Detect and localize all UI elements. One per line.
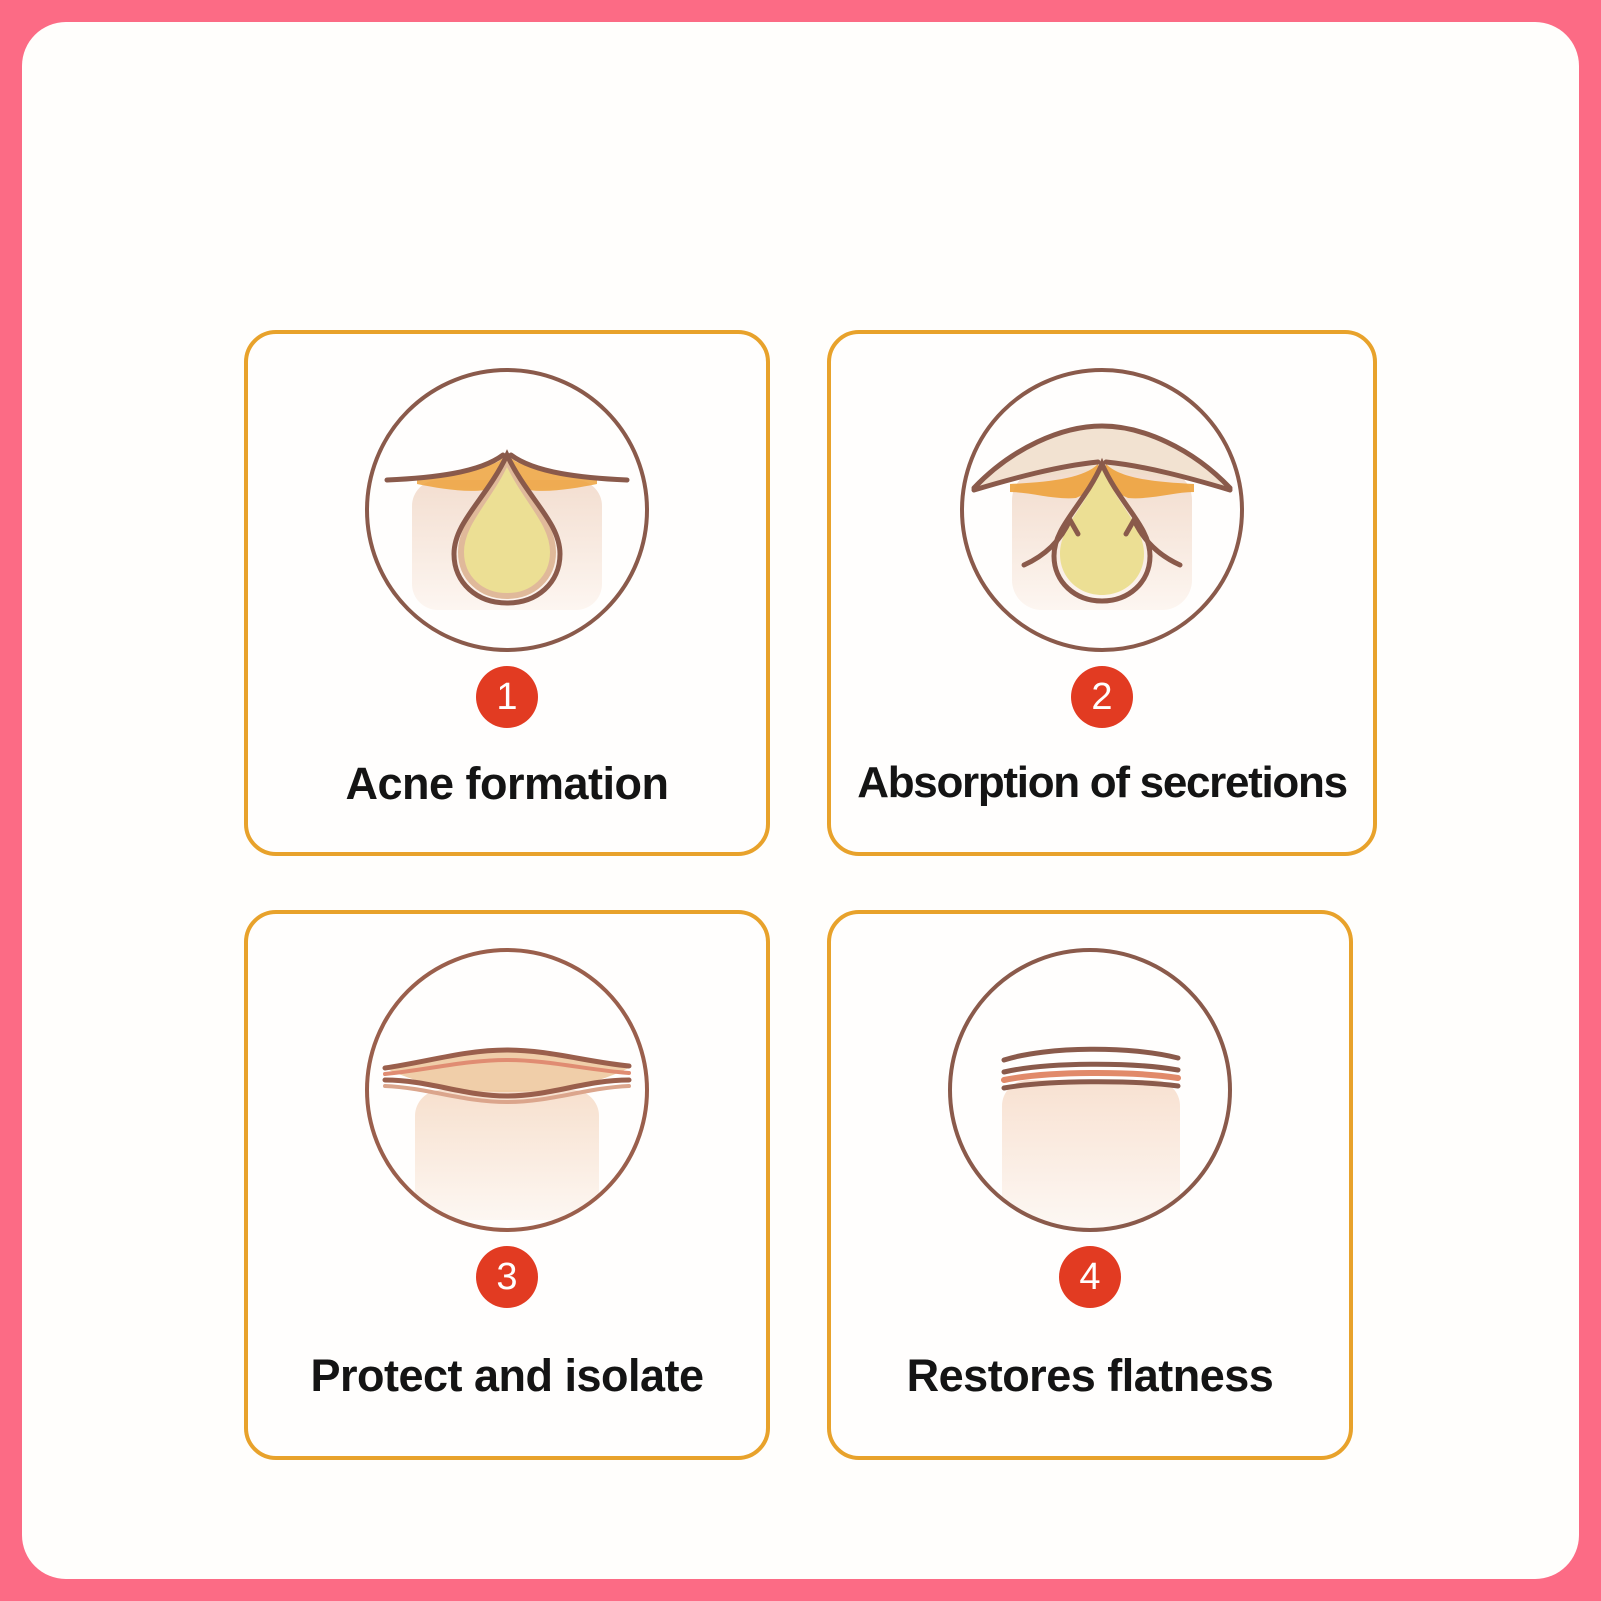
step-1-illustration-wrap xyxy=(248,360,766,660)
step-card-2[interactable]: 2 Absorption of secretions xyxy=(827,330,1377,856)
steps-grid: 1 Acne formation xyxy=(222,308,1377,1463)
acne-formation-illustration xyxy=(357,360,657,660)
step-card-3[interactable]: 3 Protect and isolate xyxy=(244,910,770,1460)
step-number-badge: 4 xyxy=(1059,1246,1121,1308)
white-page-panel: 1 Acne formation xyxy=(22,22,1579,1579)
step-label: Absorption of secretions xyxy=(857,758,1347,808)
protect-and-isolate-illustration xyxy=(357,940,657,1240)
step-label: Restores flatness xyxy=(907,1350,1274,1402)
restores-flatness-illustration xyxy=(940,940,1240,1240)
absorption-of-secretions-illustration xyxy=(952,360,1252,660)
step-card-4[interactable]: 4 Restores flatness xyxy=(827,910,1353,1460)
step-label: Acne formation xyxy=(345,758,668,810)
step-label: Protect and isolate xyxy=(310,1350,703,1402)
step-4-illustration-wrap xyxy=(831,940,1349,1240)
pink-outer-frame: 1 Acne formation xyxy=(0,0,1601,1601)
step-2-illustration-wrap xyxy=(831,360,1373,660)
step-number-badge: 1 xyxy=(476,666,538,728)
step-3-illustration-wrap xyxy=(248,940,766,1240)
step-number-badge: 2 xyxy=(1071,666,1133,728)
step-card-1[interactable]: 1 Acne formation xyxy=(244,330,770,856)
step-number-badge: 3 xyxy=(476,1246,538,1308)
